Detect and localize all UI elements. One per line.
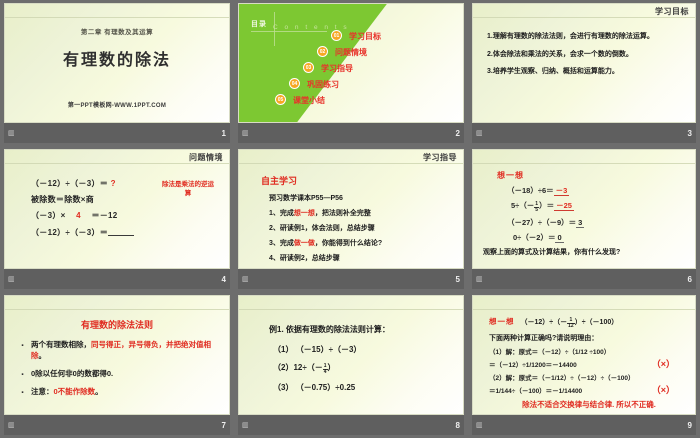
slide-cell-9[interactable]: 想一想（－12）÷（－112）÷（－100） 下面两种计算正确吗?请说明理由： … [468,292,700,438]
equation-row: （－27）÷（－9）＝3 [497,217,687,228]
slide-thumb-icon: ▥ [242,275,248,283]
list-item[interactable]: 02 问题情境 [239,44,463,60]
solution-line: （1）解：原式＝（－12）÷（1/12 ÷100） [489,346,689,356]
section-title: 自主学习 [261,174,455,187]
equation-answer: －25 [554,201,574,211]
slide-thumb-icon: ▥ [8,129,14,137]
slide-thumb-icon: ▥ [8,275,14,283]
equation-2-answer: 4 [68,211,89,220]
study-guide: 自主学习 预习数学课本P55—P56 1、完成想一想，把法则补全完整 2、研读例… [261,174,455,268]
slide-top-divider [5,309,229,310]
toc-badge: 02 [317,46,328,57]
side-note: 除法是乘法的逆运算 [159,180,217,198]
slide-thumb-icon: ▥ [242,129,248,137]
slide-6[interactable]: 想一想 （－18）÷6＝－3 5÷（－15）＝－25 （－27）÷（－9）＝3 … [472,149,696,269]
guide-line: 预习数学课本P55—P56 [261,193,455,203]
slide-cell-1[interactable]: 第二章 有理数及其运算 有理数的除法 第一PPT模板网-WWW.1PPT.COM… [0,0,234,146]
section-title: 有理数的除法法则 [19,318,215,331]
slide-cell-5[interactable]: 学习指导 自主学习 预习数学课本P55—P56 1、完成想一想，把法则补全完整 … [234,146,468,292]
toc-label: 课堂小结 [293,95,325,106]
slide-top-divider [5,17,229,18]
toc-list: 01 学习目标 02 问题情境 03 学习指导 04 巩固练习 05 课堂小 [239,28,463,108]
expression-row: 想一想（－12）÷（－112）÷（－100） [489,316,689,329]
wrong-mark: （×） [652,383,675,396]
toc-label: 巩固练习 [307,79,339,90]
toc-label: 学习目标 [349,31,381,42]
slide-top-divider [473,309,695,310]
discussion-block: 想一想（－12）÷（－112）÷（－100） 下面两种计算正确吗?请说明理由： … [489,316,689,410]
slide-caption-6: ▥ 6 [472,269,696,289]
equation-answer: －3 [554,186,570,196]
example-block: 例1. 依据有理数的除法法则计算： （1） （－15）÷（－3） （2）12÷（… [269,324,455,400]
slide-thumb-icon: ▥ [8,421,14,429]
rule-bullet: 两个有理数相除，同号得正，异号得负，并把绝对值相除。 [19,340,215,362]
conclusion-text: 除法不适合交换律与结合律. 所以不正确. [489,399,689,410]
slide-1[interactable]: 第二章 有理数及其运算 有理数的除法 第一PPT模板网-WWW.1PPT.COM [4,3,230,123]
solution-line: ＝1/144÷（－100）＝－1/14400 （×） [489,385,689,395]
list-item[interactable]: 01 学习目标 [239,28,463,44]
slide-caption-7: ▥ 7 [4,415,230,435]
slide-5[interactable]: 学习指导 自主学习 预习数学课本P55—P56 1、完成想一想，把法则补全完整 … [238,149,464,269]
slide-number: 5 [456,275,460,284]
slide-caption-2: ▥ 2 [238,123,464,143]
slide-thumb-icon: ▥ [476,421,482,429]
slide-cell-7[interactable]: 有理数的除法法则 两个有理数相除，同号得正，异号得负，并把绝对值相除。 0除以任… [0,292,234,438]
section-title: 想一想 [497,170,687,181]
slide-header-title: 学习指导 [423,152,457,163]
site-footer: 第一PPT模板网-WWW.1PPT.COM [5,100,229,109]
slide-number: 8 [456,421,460,430]
equation-row: 0÷（－2）＝0 [497,232,687,243]
slide-number: 4 [222,275,226,284]
slide-header-title: 问题情境 [189,152,223,163]
slide-caption-9: ▥ 9 [472,415,696,435]
toc-badge: 05 [275,94,286,105]
slide-header-title: 学习目标 [655,6,689,17]
equation-row: （－18）÷6＝－3 [497,185,687,196]
reflection-question: 观察上面的算式及计算结果，你有什么发现? [483,247,687,257]
page-title: 有理数的除法 [5,46,229,70]
guide-line: 3、完成做一做，你能得到什么结论? [261,238,455,248]
slide-caption-5: ▥ 5 [238,269,464,289]
slide-cell-8[interactable]: 例1. 依据有理数的除法法则计算： （1） （－15）÷（－3） （2）12÷（… [234,292,468,438]
equation-answer: 0 [555,233,563,243]
toc-label: 问题情境 [335,47,367,58]
slide-thumbnail-grid: 第二章 有理数及其运算 有理数的除法 第一PPT模板网-WWW.1PPT.COM… [0,0,700,438]
slide-9[interactable]: 想一想（－12）÷（－112）÷（－100） 下面两种计算正确吗?请说明理由： … [472,295,696,415]
equation-2: （－3）× 4 ＝－12 [31,210,221,221]
equation-row: 5÷（－15）＝－25 [497,200,687,213]
slide-caption-8: ▥ 8 [238,415,464,435]
solution-line: （2）解：原式＝（－1/12）÷（－12）÷（－100） [489,372,689,382]
slide-cell-4[interactable]: 问题情境 （－12）÷（－3）＝ ? 被除数＝除数×商 （－3）× 4 ＝－12… [0,146,234,292]
objective-line: 2.体会除法和乘法的关系，会求一个数的倒数。 [487,50,685,61]
guide-line: 1、完成想一想，把法则补全完整 [261,208,455,218]
slide-cell-6[interactable]: 想一想 （－18）÷6＝－3 5÷（－15）＝－25 （－27）÷（－9）＝3 … [468,146,700,292]
slide-thumb-icon: ▥ [476,129,482,137]
equation-3: （－12）÷（－3）＝ [31,227,221,238]
slide-top-divider [473,163,695,164]
slide-number: 3 [688,129,692,138]
guide-line: 4、研读例2，总结步骤 [261,253,455,263]
toc-badge: 04 [289,78,300,89]
slide-caption-3: ▥ 3 [472,123,696,143]
slide-number: 6 [688,275,692,284]
slide-4[interactable]: 问题情境 （－12）÷（－3）＝ ? 被除数＝除数×商 （－3）× 4 ＝－12… [4,149,230,269]
unknown-mark: ? [111,179,116,188]
prompt-text: 下面两种计算正确吗?请说明理由： [489,333,689,343]
objective-line: 3.培养学生观察、归纳、概括和运算能力。 [487,67,685,78]
slide-cell-2[interactable]: 目录 C o n t e n t s 01 学习目标 02 问题情境 03 学习… [234,0,468,146]
objectives-list: 1.理解有理数的除法法则，会进行有理数的除法运算。 2.体会除法和乘法的关系，会… [487,32,685,85]
answer-blank [108,228,134,236]
fraction: 112 [567,318,575,330]
think-exercises: 想一想 （－18）÷6＝－3 5÷（－15）＝－25 （－27）÷（－9）＝3 … [497,170,687,257]
slide-8[interactable]: 例1. 依据有理数的除法法则计算： （1） （－15）÷（－3） （2）12÷（… [238,295,464,415]
rule-bullet: 注意：0不能作除数。 [19,387,215,398]
slide-cell-3[interactable]: 学习目标 1.理解有理数的除法法则，会进行有理数的除法运算。 2.体会除法和乘法… [468,0,700,146]
slide-2[interactable]: 目录 C o n t e n t s 01 学习目标 02 问题情境 03 学习… [238,3,464,123]
objective-line: 1.理解有理数的除法法则，会进行有理数的除法运算。 [487,32,685,43]
slide-top-divider [473,17,695,18]
slide-3[interactable]: 学习目标 1.理解有理数的除法法则，会进行有理数的除法运算。 2.体会除法和乘法… [472,3,696,123]
example-item: （1） （－15）÷（－3） [269,344,455,355]
solution-line: ＝（－12）÷1/1200＝－14400 （×） [489,359,689,369]
slide-caption-1: ▥ 1 [4,123,230,143]
example-title: 例1. 依据有理数的除法法则计算： [269,324,455,335]
division-rule-block: 有理数的除法法则 两个有理数相除，同号得正，异号得负，并把绝对值相除。 0除以任… [19,318,215,405]
slide-number: 1 [222,129,226,138]
slide-caption-4: ▥ 4 [4,269,230,289]
toc-badge: 03 [303,62,314,73]
rule-bullet: 0除以任何非0的数都得0. [19,369,215,380]
toc-badge: 01 [331,30,342,41]
list-item[interactable]: 03 学习指导 [239,60,463,76]
example-item: （3） （－0.75）÷0.25 [269,382,455,393]
chapter-subtitle: 第二章 有理数及其运算 [5,26,229,36]
list-item[interactable]: 05 课堂小结 [239,92,463,108]
guide-line: 2、研读例1，体会法则，总结步骤 [261,223,455,233]
slide-thumb-icon: ▥ [476,275,482,283]
slide-number: 2 [456,129,460,138]
example-item: （2）12÷（－14） [269,362,455,375]
wrong-mark: （×） [652,357,675,370]
slide-top-divider [239,163,463,164]
equation-answer: 3 [576,218,584,228]
slide-top-divider [5,163,229,164]
toc-label: 学习指导 [321,63,353,74]
slide-number: 7 [222,421,226,430]
slide-7[interactable]: 有理数的除法法则 两个有理数相除，同号得正，异号得负，并把绝对值相除。 0除以任… [4,295,230,415]
slide-thumb-icon: ▥ [242,421,248,429]
slide-top-divider [239,309,463,310]
section-title: 想一想 [489,317,515,326]
slide-number: 9 [688,421,692,430]
list-item[interactable]: 04 巩固练习 [239,76,463,92]
